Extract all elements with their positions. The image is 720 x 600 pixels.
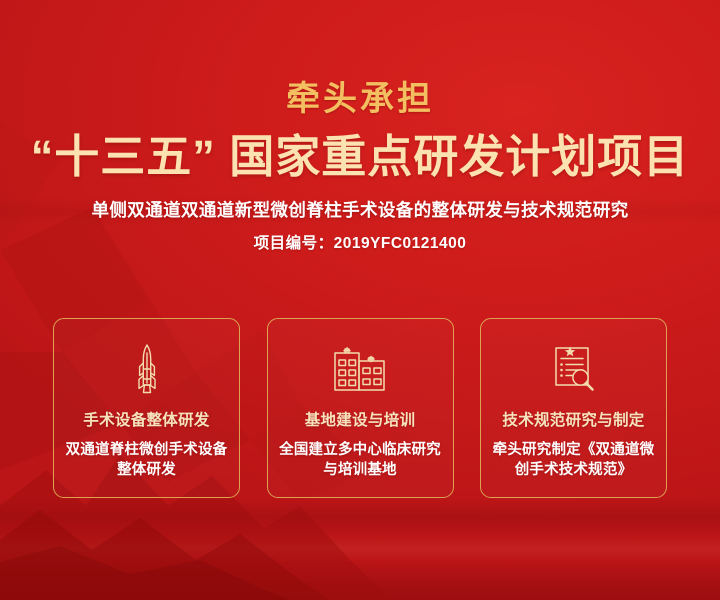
card-body: 全国建立多中心临床研究与培训基地 [268,440,453,481]
hospital-building-icon [332,343,388,395]
card-body: 牵头研究制定《双通道微创手术技术规范》 [481,440,666,481]
card-base-construction-training[interactable]: 基地建设与培训 全国建立多中心临床研究与培训基地 [267,318,454,498]
subtitle-text: 单侧双通道双通道新型微创脊柱手术设备的整体研发与技术规范研究 [0,202,720,220]
card-surgical-equipment[interactable]: 手术设备整体研发 双通道脊柱微创手术设备整体研发 [53,318,240,498]
poster-header: 牵头承担 “十三五” 国家重点研发计划项目 单侧双通道双通道新型微创脊柱手术设备… [0,0,720,251]
card-list: 手术设备整体研发 双通道脊柱微创手术设备整体研发 [53,318,667,498]
document-magnifier-icon [549,343,599,395]
card-body: 双通道脊柱微创手术设备整体研发 [54,440,239,481]
card-title: 基地建设与培训 [305,413,416,429]
poster-banner: 牵头承担 “十三五” 国家重点研发计划项目 单侧双通道双通道新型微创脊柱手术设备… [0,0,720,600]
card-title: 手术设备整体研发 [83,413,209,429]
card-title: 技术规范研究与制定 [502,413,644,429]
card-technical-standards[interactable]: 技术规范研究与制定 牵头研究制定《双通道微创手术技术规范》 [480,318,667,498]
page-title: “十三五” 国家重点研发计划项目 [0,133,720,180]
project-number-text: 项目编号：2019YFC0121400 [0,236,720,252]
eyebrow-text: 牵头承担 [0,82,720,116]
rocket-icon [132,343,162,395]
